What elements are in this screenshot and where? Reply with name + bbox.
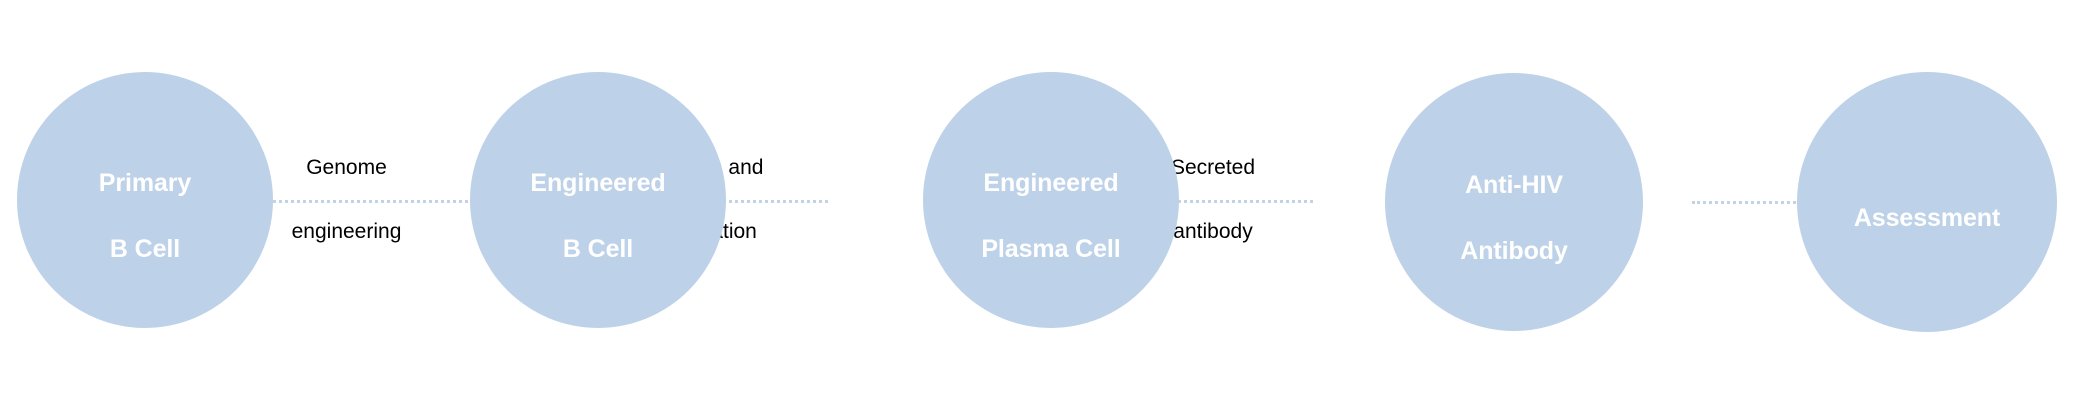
connector-label: Secreted antibody [1169, 120, 1257, 280]
node-assessment[interactable]: Assessment [1797, 72, 2057, 332]
node-label-line1: Assessment [1854, 204, 2000, 232]
node-label-line1: Engineered [983, 169, 1118, 197]
connector-dotted-line [1692, 201, 1814, 204]
connector-label: Genome engineering [290, 120, 404, 280]
node-label: Primary B Cell [89, 134, 201, 267]
node-engineered-plasma-cell[interactable]: Engineered Plasma Cell [923, 72, 1179, 328]
diagram-canvas: Genome engineering Expansion and differe… [0, 0, 2074, 420]
node-label: Anti-HIV Antibody [1450, 136, 1578, 269]
connector-label-line1: Secreted [1169, 152, 1257, 184]
node-label: Assessment [1844, 169, 2010, 236]
connector-label-line1: Genome [290, 152, 404, 184]
connector-label-line2: engineering [290, 216, 404, 248]
connector-antibody-to-assessment [1692, 156, 1814, 246]
connector-label-line2: antibody [1169, 216, 1257, 248]
node-anti-hiv-antibody[interactable]: Anti-HIV Antibody [1385, 73, 1643, 331]
node-label: Engineered Plasma Cell [971, 134, 1130, 267]
node-label-line2: B Cell [563, 235, 633, 263]
node-label-line2: B Cell [110, 235, 180, 263]
node-label-line1: Primary [99, 169, 191, 197]
node-label-line2: Antibody [1460, 237, 1568, 265]
node-label-line1: Engineered [530, 169, 665, 197]
node-label: Engineered B Cell [520, 134, 675, 267]
node-label-line2: Plasma Cell [981, 235, 1120, 263]
node-label-line1: Anti-HIV [1465, 171, 1563, 199]
node-engineered-b-cell[interactable]: Engineered B Cell [470, 72, 726, 328]
node-primary-b-cell[interactable]: Primary B Cell [17, 72, 273, 328]
